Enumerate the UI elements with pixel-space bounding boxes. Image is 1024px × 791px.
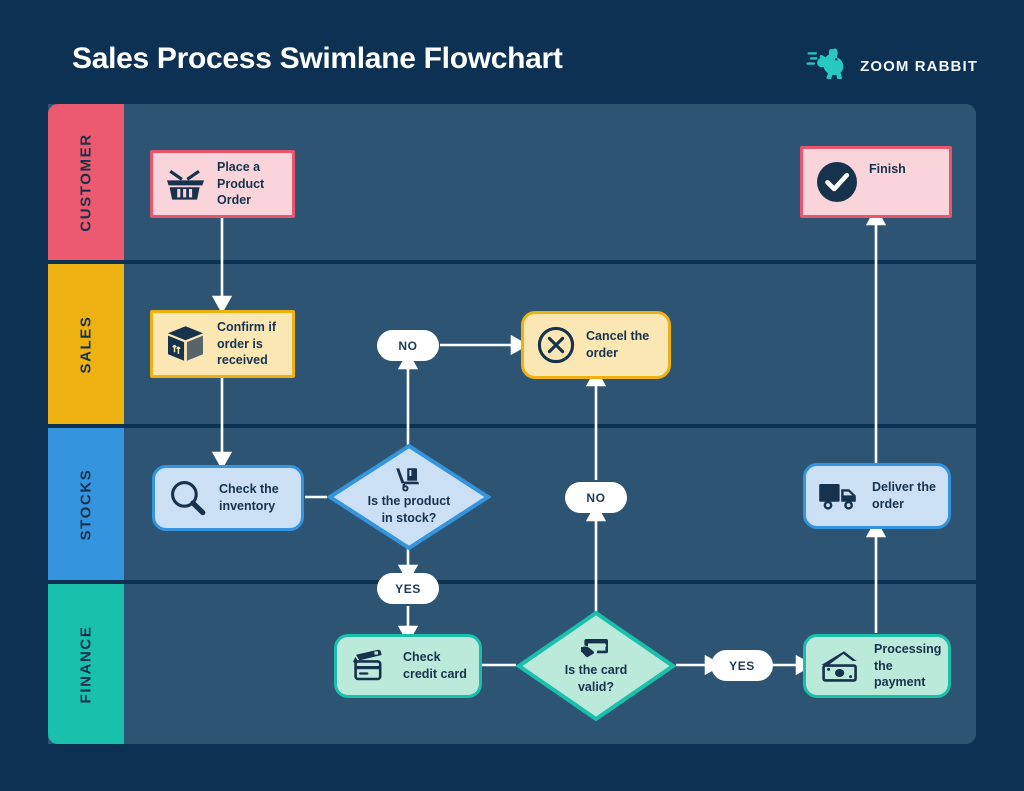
edge-label-no-out-of-stock: NO: [377, 330, 439, 361]
node-confirm-order[interactable]: Confirm if order is received: [150, 310, 295, 378]
edge-label-no-card-invalid-text: NO: [586, 491, 605, 505]
node-cancel-order[interactable]: Cancel the order: [521, 311, 671, 379]
edge-label-yes-in-stock: YES: [377, 573, 439, 604]
flowchart-canvas: Sales Process Swimlane Flowchart ZOOM RA…: [0, 0, 1024, 791]
edge-label-yes-in-stock-text: YES: [395, 582, 421, 596]
decision-card-valid-line1: Is the card: [516, 662, 676, 678]
swimlane-label-stocks: STOCKS: [78, 468, 95, 540]
node-check-inventory-label: Check the inventory: [219, 481, 291, 514]
banknotes-icon: [818, 649, 864, 683]
edge-label-yes-card-valid-text: YES: [729, 659, 755, 673]
decision-product-in-stock-line2: in stock?: [327, 510, 491, 526]
truck-icon: [818, 480, 862, 512]
swimlane-customer-header: CUSTOMER: [48, 104, 124, 260]
decision-card-valid[interactable]: Is the card valid?: [516, 610, 676, 722]
node-check-credit-card[interactable]: Check credit card: [334, 634, 482, 698]
node-place-order-label: Place a Product Order: [217, 159, 282, 209]
page-title: Sales Process Swimlane Flowchart: [72, 42, 563, 76]
credit-cards-icon: [349, 648, 393, 684]
decision-product-in-stock-line1: Is the product: [327, 493, 491, 509]
shopping-basket-icon: [165, 166, 207, 202]
node-processing-payment-label: Processing the payment: [874, 641, 941, 691]
brand-logo: ZOOM RABBIT: [806, 47, 978, 85]
swimlane-label-finance: FINANCE: [78, 625, 95, 703]
edge-label-yes-card-valid: YES: [711, 650, 773, 681]
node-processing-payment[interactable]: Processing the payment: [803, 634, 951, 698]
rabbit-icon: [806, 47, 848, 86]
swimlane-label-sales: SALES: [77, 315, 94, 373]
card-in-hand-icon: [516, 636, 676, 660]
x-circle-icon: [536, 325, 576, 365]
node-cancel-order-label: Cancel the order: [586, 328, 658, 361]
node-finish[interactable]: Finish: [800, 146, 952, 218]
node-deliver-order-label: Deliver the order: [872, 479, 938, 512]
node-check-inventory[interactable]: Check the inventory: [152, 465, 304, 531]
brand-name: ZOOM RABBIT: [860, 58, 978, 75]
node-place-order[interactable]: Place a Product Order: [150, 150, 295, 218]
decision-product-in-stock[interactable]: Is the product in stock?: [327, 443, 491, 551]
node-deliver-order[interactable]: Deliver the order: [803, 463, 951, 529]
node-finish-label: Finish: [869, 161, 906, 178]
swimlane-label-customer: CUSTOMER: [78, 133, 95, 231]
decision-card-valid-line2: valid?: [516, 679, 676, 695]
swimlane-stocks-header: STOCKS: [48, 428, 124, 580]
edge-label-no-out-of-stock-text: NO: [398, 339, 417, 353]
swimlane-finance-header: FINANCE: [48, 584, 124, 744]
check-circle-icon: [815, 160, 859, 204]
node-check-credit-card-label: Check credit card: [403, 649, 469, 682]
hand-truck-icon: [327, 467, 491, 493]
swimlane-sales-header: SALES: [48, 264, 124, 424]
magnifier-icon: [167, 478, 209, 518]
edge-label-no-card-invalid: NO: [565, 482, 627, 513]
node-confirm-order-label: Confirm if order is received: [217, 319, 282, 369]
package-box-icon: [165, 324, 207, 364]
